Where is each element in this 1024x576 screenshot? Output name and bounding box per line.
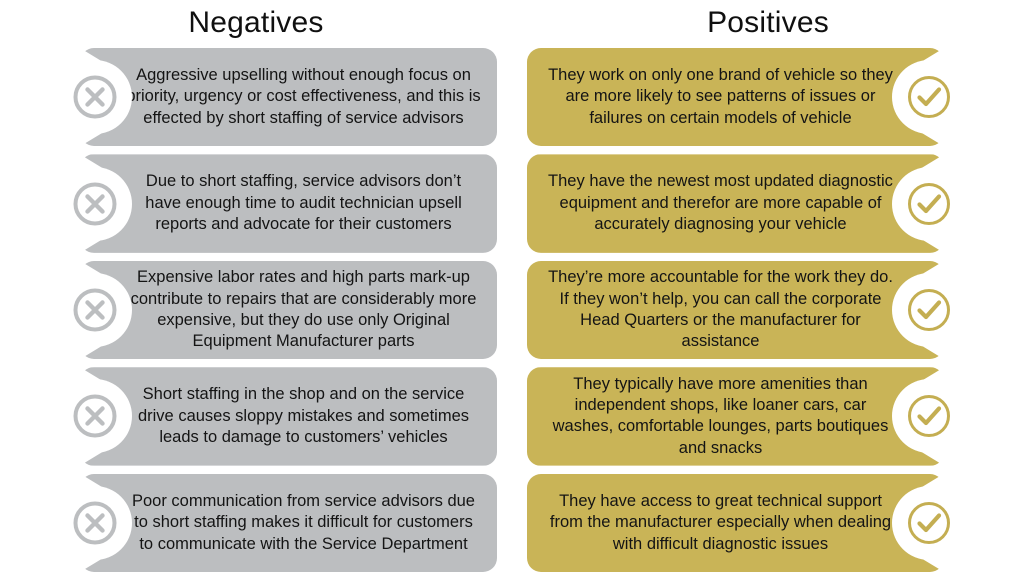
negative-card-text: Aggressive upselling without enough focu… [80, 61, 497, 133]
circle-check-icon [906, 500, 952, 546]
positive-card-text: They have the newest most updated diagno… [527, 167, 944, 239]
negative-card[interactable]: Expensive labor rates and high parts mar… [80, 261, 497, 359]
comparison-slide: Negatives Positives Aggressive upselling… [0, 0, 1024, 576]
circle-x-icon [72, 500, 118, 546]
positive-card[interactable]: They have access to great technical supp… [527, 474, 944, 572]
negative-card[interactable]: Poor communication from service advisors… [80, 474, 497, 572]
negative-item[interactable]: Short staffing in the shop and on the se… [0, 367, 512, 465]
circle-check-icon [906, 181, 952, 227]
positive-card-text: They typically have more amenities than … [527, 370, 944, 464]
positive-item[interactable]: They work on only one brand of vehicle s… [512, 48, 1024, 146]
circle-check-icon [906, 74, 952, 120]
positive-item[interactable]: They typically have more amenities than … [512, 367, 1024, 465]
positive-card[interactable]: They’re more accountable for the work th… [527, 261, 944, 359]
positives-column: They work on only one brand of vehicle s… [512, 48, 1024, 572]
positive-card[interactable]: They work on only one brand of vehicle s… [527, 48, 944, 146]
positive-card-text: They work on only one brand of vehicle s… [527, 61, 944, 133]
negative-item[interactable]: Due to short staffing, service advisors … [0, 154, 512, 252]
positive-card-text: They’re more accountable for the work th… [527, 263, 944, 357]
negative-card-text: Poor communication from service advisors… [80, 487, 497, 559]
negative-item[interactable]: Aggressive upselling without enough focu… [0, 48, 512, 146]
positive-item[interactable]: They’re more accountable for the work th… [512, 261, 1024, 359]
positive-item[interactable]: They have access to great technical supp… [512, 474, 1024, 572]
positive-card-text: They have access to great technical supp… [527, 487, 944, 559]
circle-x-icon [72, 393, 118, 439]
positive-card[interactable]: They have the newest most updated diagno… [527, 154, 944, 252]
circle-check-icon [906, 287, 952, 333]
positive-item[interactable]: They have the newest most updated diagno… [512, 154, 1024, 252]
negative-item[interactable]: Expensive labor rates and high parts mar… [0, 261, 512, 359]
circle-x-icon [72, 287, 118, 333]
negative-card[interactable]: Aggressive upselling without enough focu… [80, 48, 497, 146]
circle-x-icon [72, 181, 118, 227]
negative-card-text: Expensive labor rates and high parts mar… [80, 263, 497, 357]
circle-check-icon [906, 393, 952, 439]
negative-item[interactable]: Poor communication from service advisors… [0, 474, 512, 572]
negative-card-text: Due to short staffing, service advisors … [80, 167, 497, 239]
negatives-column-heading: Negatives [0, 6, 512, 40]
negative-card-text: Short staffing in the shop and on the se… [80, 380, 497, 452]
positive-card[interactable]: They typically have more amenities than … [527, 367, 944, 465]
negatives-column: Aggressive upselling without enough focu… [0, 48, 512, 572]
negative-card[interactable]: Due to short staffing, service advisors … [80, 154, 497, 252]
negative-card[interactable]: Short staffing in the shop and on the se… [80, 367, 497, 465]
positives-column-heading: Positives [512, 6, 1024, 40]
circle-x-icon [72, 74, 118, 120]
